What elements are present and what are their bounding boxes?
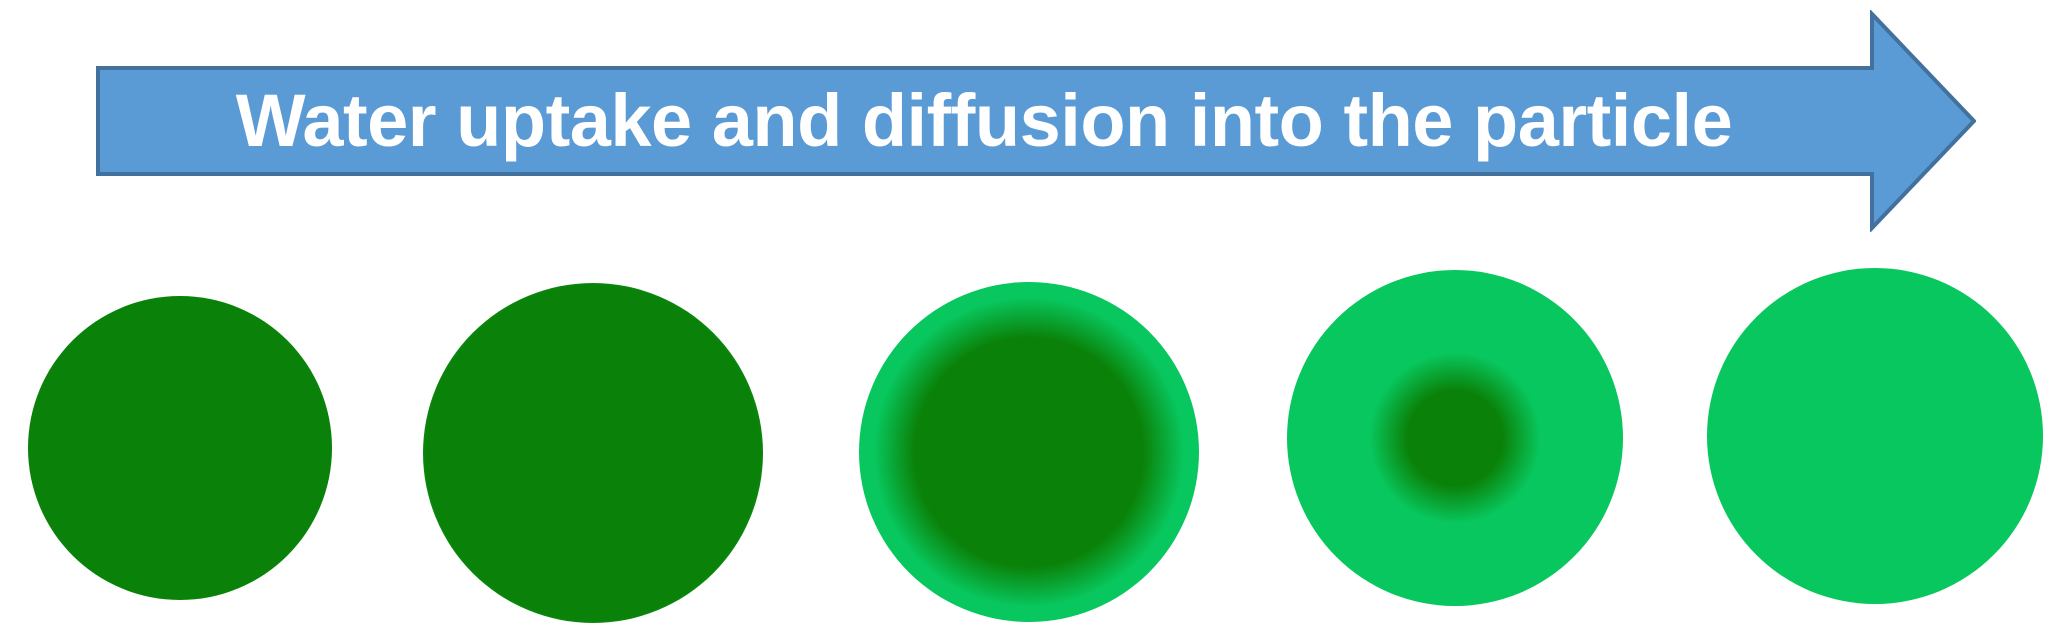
- particle-stage-2: [423, 283, 763, 623]
- particle-stage-3: [859, 282, 1199, 622]
- diagram-canvas: Water uptake and diffusion into the part…: [0, 0, 2067, 637]
- process-direction-arrow: Water uptake and diffusion into the part…: [96, 10, 1976, 232]
- particle-stage-1: [28, 296, 332, 600]
- particle-stage-5: [1707, 268, 2043, 604]
- particle-stage-4: [1287, 270, 1623, 606]
- arrow-label-text: Water uptake and diffusion into the part…: [96, 68, 1872, 174]
